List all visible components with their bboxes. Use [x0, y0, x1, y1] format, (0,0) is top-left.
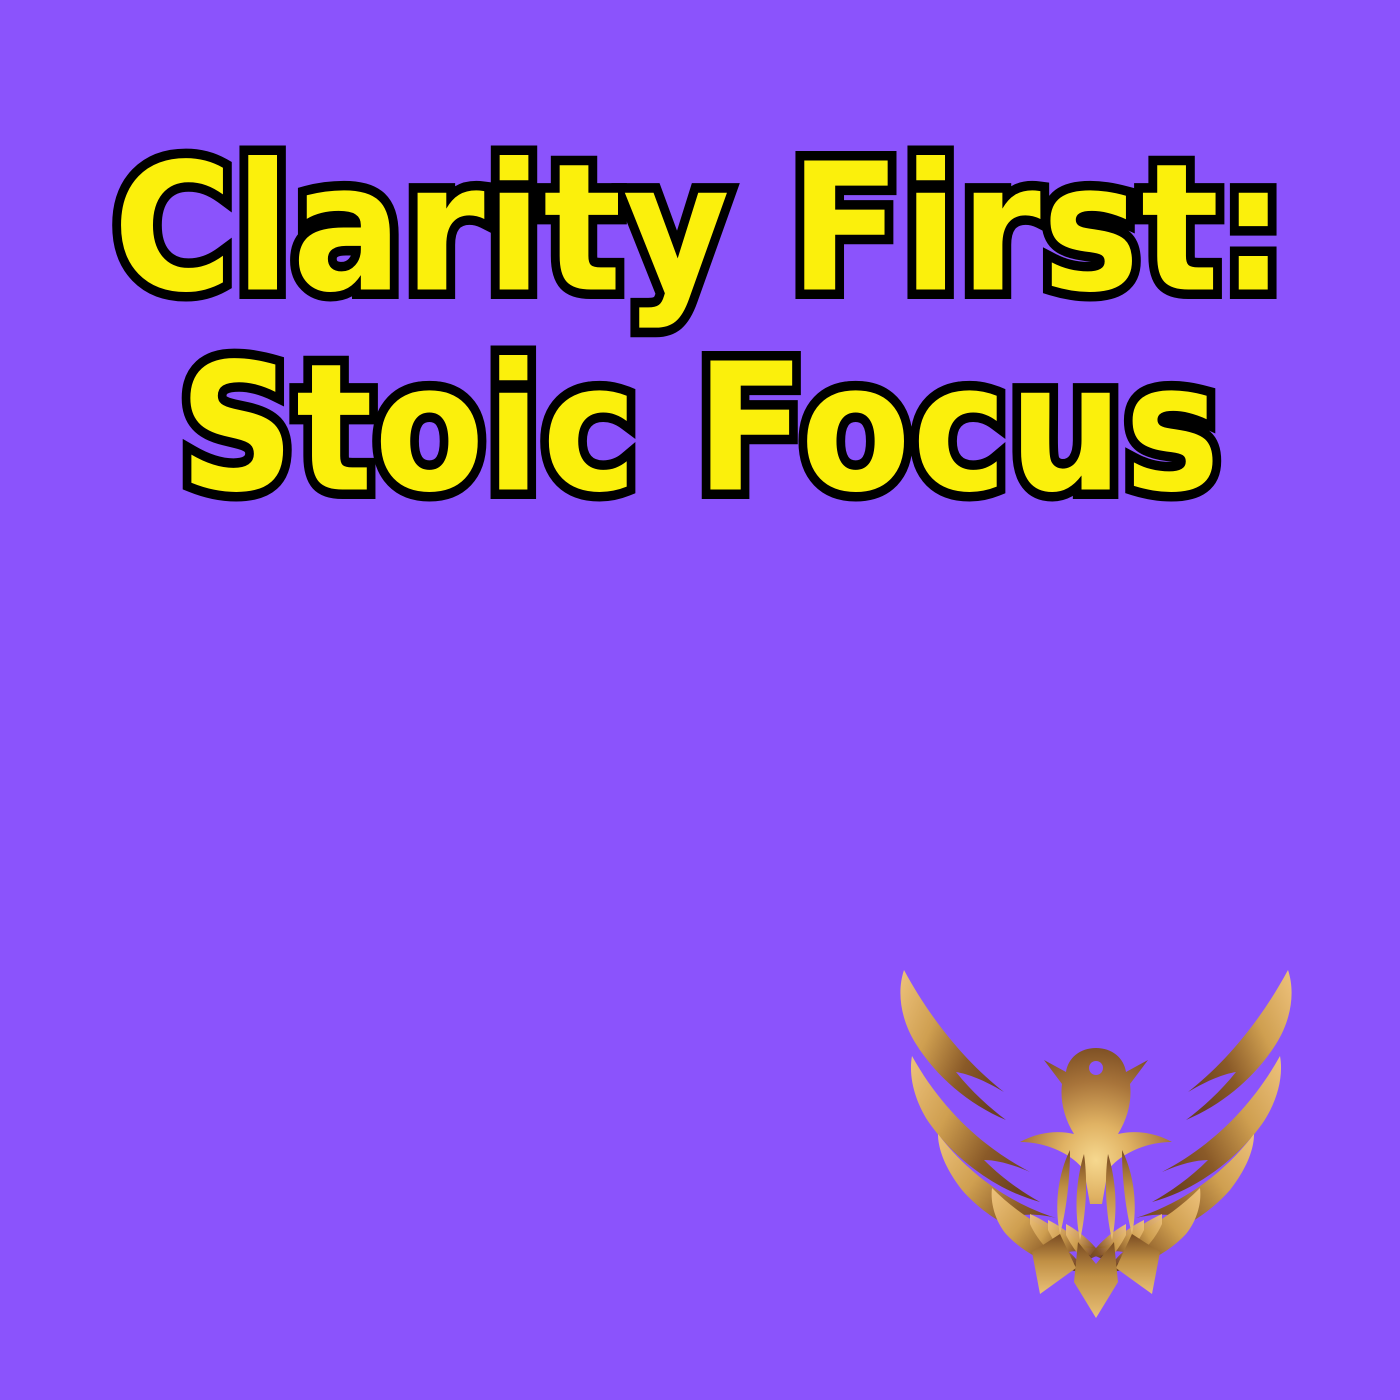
page-title: Clarity First: Stoic Focus: [0, 150, 1400, 508]
title-line-2: Stoic Focus: [0, 341, 1400, 518]
phoenix-eye: [1089, 1061, 1103, 1075]
podcast-cover-art: Clarity First: Stoic Focus: [0, 0, 1400, 1400]
phoenix-logo-icon: [872, 952, 1320, 1332]
phoenix-logo: [872, 952, 1320, 1332]
title-line-1: Clarity First:: [0, 141, 1400, 318]
